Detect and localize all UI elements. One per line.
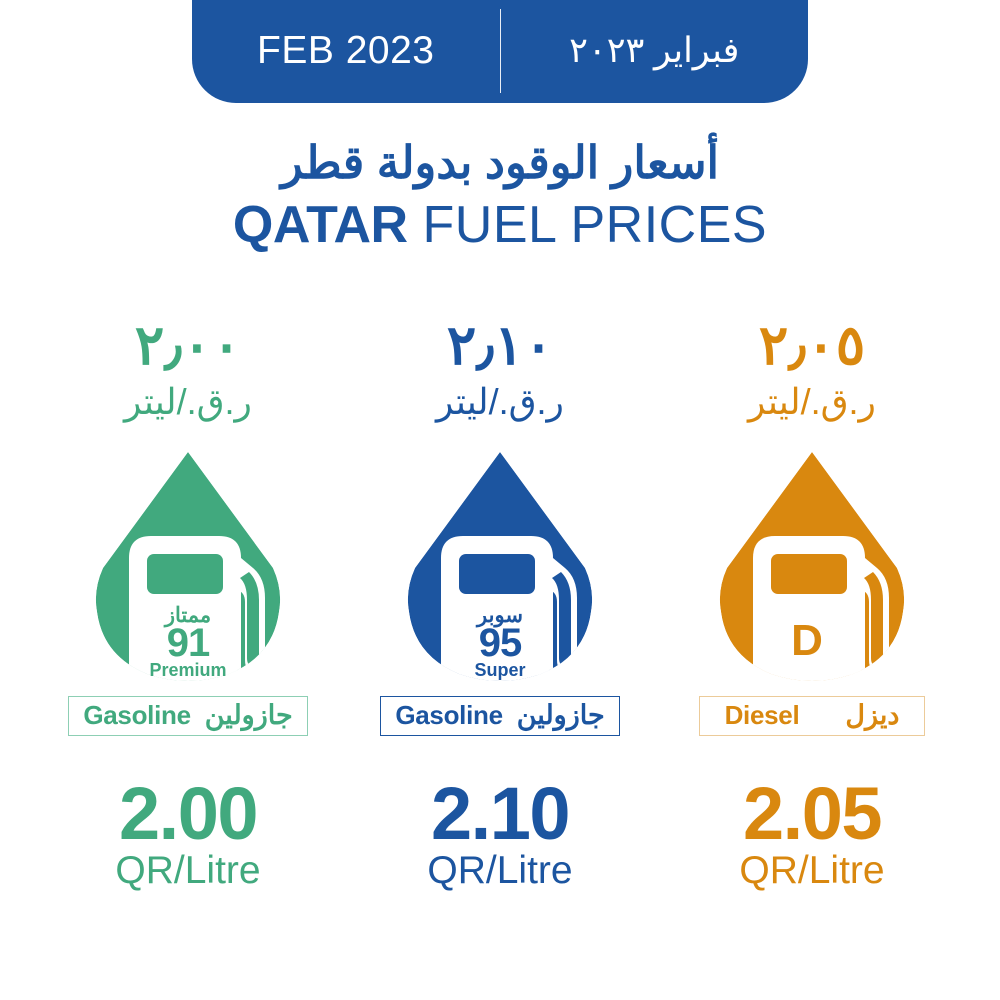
fuel-columns: ٢٫٠٠ ر.ق./ليتر — [0, 318, 1000, 893]
fuel-type-box-premium-91: Gasoline جازولين — [68, 696, 307, 736]
price-super-95: 2.10 — [431, 780, 569, 848]
pump-label-english-premium-91: Premium — [149, 660, 226, 680]
fuel-droplet-icon-diesel: D — [717, 450, 907, 682]
price-diesel: 2.05 — [743, 780, 881, 848]
month-banner: FEB 2023 فبراير ٢٠٢٣ — [192, 0, 808, 103]
fuel-card-diesel: ٢٫٠٥ ر.ق./ليتر D — [662, 318, 962, 893]
fuel-type-arabic-diesel: ديزل — [845, 700, 899, 731]
price-unit-diesel: QR/Litre — [739, 850, 884, 893]
price-premium-91: 2.00 — [119, 780, 257, 848]
month-label-en: FEB 2023 — [257, 29, 434, 73]
fuel-type-arabic-super-95: جازولين — [517, 700, 605, 731]
arabic-unit-diesel: ر.ق./ليتر — [748, 379, 876, 424]
arabic-price-super-95: ٢٫١٠ — [447, 318, 553, 373]
fuel-type-english-super-95: Gasoline — [395, 700, 502, 731]
fuel-type-box-super-95: Gasoline جازولين — [380, 696, 619, 736]
pump-label-number-diesel: D — [791, 616, 823, 665]
page-title-english-strong: QATAR — [233, 196, 408, 254]
price-unit-super-95: QR/Litre — [427, 850, 572, 893]
fuel-type-english-premium-91: Gasoline — [83, 700, 190, 731]
fuel-type-box-diesel: Diesel ديزل — [699, 696, 925, 736]
page-title-arabic: أسعار الوقود بدولة قطر — [0, 136, 1000, 189]
month-banner-english: FEB 2023 — [192, 0, 500, 103]
banner-divider — [500, 9, 501, 93]
fuel-card-premium-91: ٢٫٠٠ ر.ق./ليتر — [38, 318, 338, 893]
arabic-price-diesel: ٢٫٠٥ — [759, 318, 865, 373]
pump-label-number-super-95: 95 — [479, 621, 522, 665]
page-title: أسعار الوقود بدولة قطر QATAR FUEL PRICES — [0, 136, 1000, 255]
fuel-droplet-icon-super-95: سوبر 95 Super — [405, 450, 595, 682]
page-title-english-light: FUEL PRICES — [408, 196, 768, 254]
fuel-card-super-95: ٢٫١٠ ر.ق./ليتر سو — [350, 318, 650, 893]
price-unit-premium-91: QR/Litre — [115, 850, 260, 893]
month-banner-arabic: فبراير ٢٠٢٣ — [501, 0, 809, 103]
pump-label-english-super-95: Super — [474, 660, 525, 680]
arabic-unit-super-95: ر.ق./ليتر — [436, 379, 564, 424]
qatar-fuel-prices-poster: FEB 2023 فبراير ٢٠٢٣ أسعار الوقود بدولة … — [0, 0, 1000, 1000]
fuel-droplet-icon-premium-91: ممتاز 91 Premium — [93, 450, 283, 682]
page-title-english: QATAR FUEL PRICES — [0, 195, 1000, 255]
fuel-type-arabic-premium-91: جازولين — [205, 700, 293, 731]
pump-label-number-premium-91: 91 — [167, 621, 210, 665]
fuel-type-english-diesel: Diesel — [725, 700, 800, 731]
month-label-ar: فبراير ٢٠٢٣ — [569, 31, 739, 71]
arabic-price-premium-91: ٢٫٠٠ — [135, 318, 241, 373]
arabic-unit-premium-91: ر.ق./ليتر — [124, 379, 252, 424]
